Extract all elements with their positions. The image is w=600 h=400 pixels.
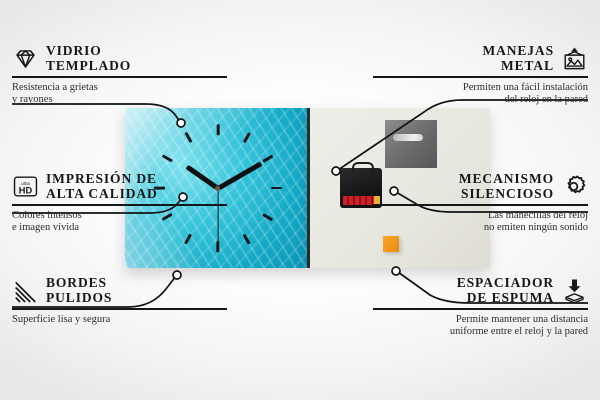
- divider: [12, 76, 227, 78]
- callout-title-line2: SILENCIOSO: [459, 187, 554, 202]
- callout-desc-line2: no emiten ningún sonido: [373, 222, 588, 235]
- hanger-slot: [393, 134, 423, 141]
- mechanism-hook: [352, 162, 374, 172]
- callout-title-line1: VIDRIO: [46, 44, 131, 59]
- divider: [12, 204, 227, 206]
- divider: [12, 308, 227, 310]
- callout-title-line2: TEMPLADO: [46, 59, 131, 74]
- callout-desc-line2: del reloj en la pared: [373, 94, 588, 107]
- clock-tick: [243, 132, 251, 143]
- callout-desc-line1: Permite mantener una distancia: [373, 314, 588, 327]
- callout-header: MECANISMO SILENCIOSO: [373, 172, 588, 201]
- callout-title-line2: DE ESPUMA: [457, 291, 554, 306]
- clock-tick: [184, 233, 192, 244]
- callout-desc-line1: Superficie lisa y segura: [12, 314, 227, 327]
- callout-manejas-metal[interactable]: MANEJAS METAL Permiten una fácil instala…: [373, 44, 588, 107]
- clock-tick: [216, 241, 219, 252]
- divider: [373, 76, 588, 78]
- callout-desc-line2: e imagen vívida: [12, 222, 227, 235]
- callout-espaciador-espuma[interactable]: ESPACIADOR DE ESPUMA Permite mantener un…: [373, 276, 588, 339]
- ultra-hd-icon: ultra HD: [12, 173, 39, 200]
- callout-title-line1: MECANISMO: [459, 172, 554, 187]
- callout-desc-line1: Resistencia a grietas: [12, 82, 227, 95]
- clock-tick: [263, 155, 274, 163]
- callout-desc-line2: y rayones: [12, 94, 227, 107]
- svg-text:HD: HD: [19, 185, 33, 195]
- callout-title-line1: MANEJAS: [482, 44, 554, 59]
- picture-hanger-icon: [561, 45, 588, 72]
- callout-desc-line2: uniforme entre el reloj y la pared: [373, 326, 588, 339]
- callout-desc-line1: Colores intensos: [12, 210, 227, 223]
- callout-title-line1: BORDES: [46, 276, 112, 291]
- callout-header: ultra HD IMPRESIÓN DE ALTA CALIDAD: [12, 172, 227, 201]
- clock-tick: [184, 132, 192, 143]
- callout-title-line1: ESPACIADOR: [457, 276, 554, 291]
- clock-tick: [216, 124, 219, 135]
- callout-title-line2: METAL: [482, 59, 554, 74]
- diamond-icon: [12, 45, 39, 72]
- clock-tick: [263, 213, 274, 221]
- clock-tick: [161, 155, 172, 163]
- callout-title-line2: PULIDOS: [46, 291, 112, 306]
- callout-header: BORDES PULIDOS: [12, 276, 227, 305]
- callout-header: MANEJAS METAL: [373, 44, 588, 73]
- divider: [373, 308, 588, 310]
- divider: [373, 204, 588, 206]
- callout-bordes-pulidos[interactable]: BORDES PULIDOS Superficie lisa y segura: [12, 276, 227, 326]
- clock-tick: [271, 187, 282, 190]
- callout-desc-line1: Las manecillas del reloj: [373, 210, 588, 223]
- foam-spacer-pad: [383, 236, 399, 252]
- clock-tick: [243, 233, 251, 244]
- callout-header: VIDRIO TEMPLADO: [12, 44, 227, 73]
- callout-impresion-alta-calidad[interactable]: ultra HD IMPRESIÓN DE ALTA CALIDAD Color…: [12, 172, 227, 235]
- polished-edges-icon: [12, 277, 39, 304]
- callout-mecanismo-silencioso[interactable]: MECANISMO SILENCIOSO Las manecillas del …: [373, 172, 588, 235]
- callout-header: ESPACIADOR DE ESPUMA: [373, 276, 588, 305]
- callout-title-line1: IMPRESIÓN DE: [46, 172, 158, 187]
- foam-spacer-icon: [561, 277, 588, 304]
- callout-title-line2: ALTA CALIDAD: [46, 187, 158, 202]
- callout-vidrio-templado[interactable]: VIDRIO TEMPLADO Resistencia a grietas y …: [12, 44, 227, 107]
- infographic-canvas: VIDRIO TEMPLADO Resistencia a grietas y …: [0, 0, 600, 400]
- callout-desc-line1: Permiten una fácil instalación: [373, 82, 588, 95]
- gear-icon: [561, 173, 588, 200]
- metal-hanger-plate: [385, 120, 437, 168]
